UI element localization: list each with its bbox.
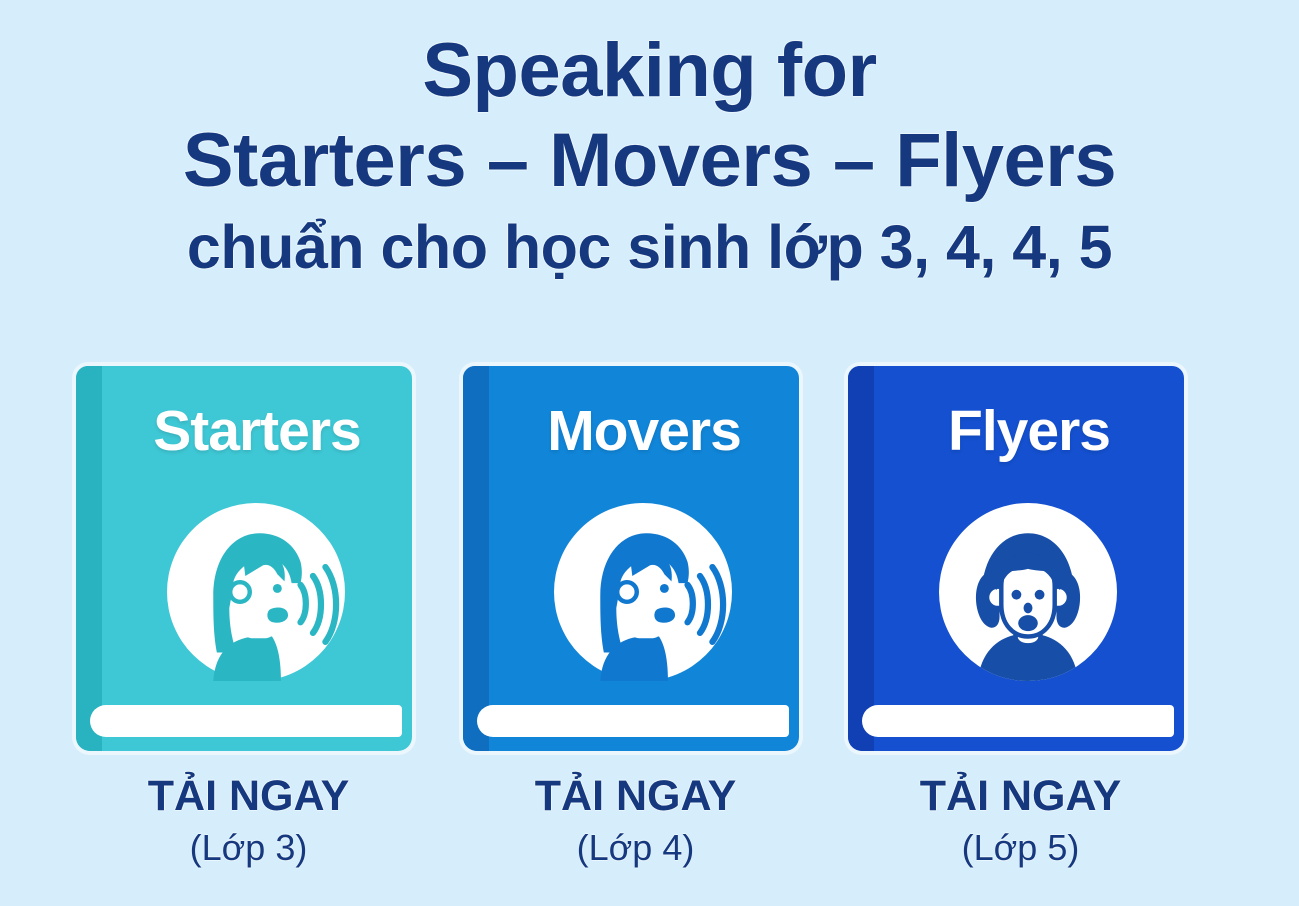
book-title-label: Starters bbox=[102, 400, 412, 463]
book-cover-flyers[interactable]: Flyers bbox=[848, 366, 1184, 751]
book-spine bbox=[848, 366, 874, 751]
book-card-starters[interactable]: Starters bbox=[76, 366, 421, 756]
download-label[interactable]: TẢI NGAY bbox=[76, 772, 421, 820]
headline-line-2: Starters – Movers – Flyers bbox=[0, 116, 1299, 206]
book-pages-edge bbox=[477, 705, 789, 737]
speaking-person-side-icon bbox=[554, 503, 732, 681]
poster-canvas: Speaking for Starters – Movers – Flyers … bbox=[0, 0, 1299, 906]
headline-line-1: Speaking for bbox=[0, 26, 1299, 116]
grade-label: (Lớp 4) bbox=[463, 825, 808, 872]
book-title-label: Flyers bbox=[874, 400, 1184, 463]
book-card-movers[interactable]: Movers bbox=[463, 366, 808, 756]
download-label[interactable]: TẢI NGAY bbox=[463, 772, 808, 820]
download-caption-flyers[interactable]: TẢI NGAY (Lớp 5) bbox=[848, 772, 1193, 872]
girl-face-front-icon bbox=[939, 503, 1117, 681]
page-title: Speaking for Starters – Movers – Flyers … bbox=[0, 26, 1299, 286]
grade-label: (Lớp 3) bbox=[76, 825, 421, 872]
book-spine bbox=[463, 366, 489, 751]
book-cover-starters[interactable]: Starters bbox=[76, 366, 412, 751]
captions-row: TẢI NGAY (Lớp 3) TẢI NGAY (Lớp 4) TẢI NG… bbox=[0, 772, 1299, 892]
download-caption-movers[interactable]: TẢI NGAY (Lớp 4) bbox=[463, 772, 808, 872]
book-pages-edge bbox=[90, 705, 402, 737]
book-card-flyers[interactable]: Flyers bbox=[848, 366, 1193, 756]
book-title-label: Movers bbox=[489, 400, 799, 463]
book-spine bbox=[76, 366, 102, 751]
books-row: Starters bbox=[0, 366, 1299, 756]
grade-label: (Lớp 5) bbox=[848, 825, 1193, 872]
speaking-person-side-icon bbox=[167, 503, 345, 681]
book-pages-edge bbox=[862, 705, 1174, 737]
download-label[interactable]: TẢI NGAY bbox=[848, 772, 1193, 820]
download-caption-starters[interactable]: TẢI NGAY (Lớp 3) bbox=[76, 772, 421, 872]
headline-line-3: chuẩn cho học sinh lớp 3, 4, 4, 5 bbox=[0, 209, 1299, 285]
book-cover-movers[interactable]: Movers bbox=[463, 366, 799, 751]
